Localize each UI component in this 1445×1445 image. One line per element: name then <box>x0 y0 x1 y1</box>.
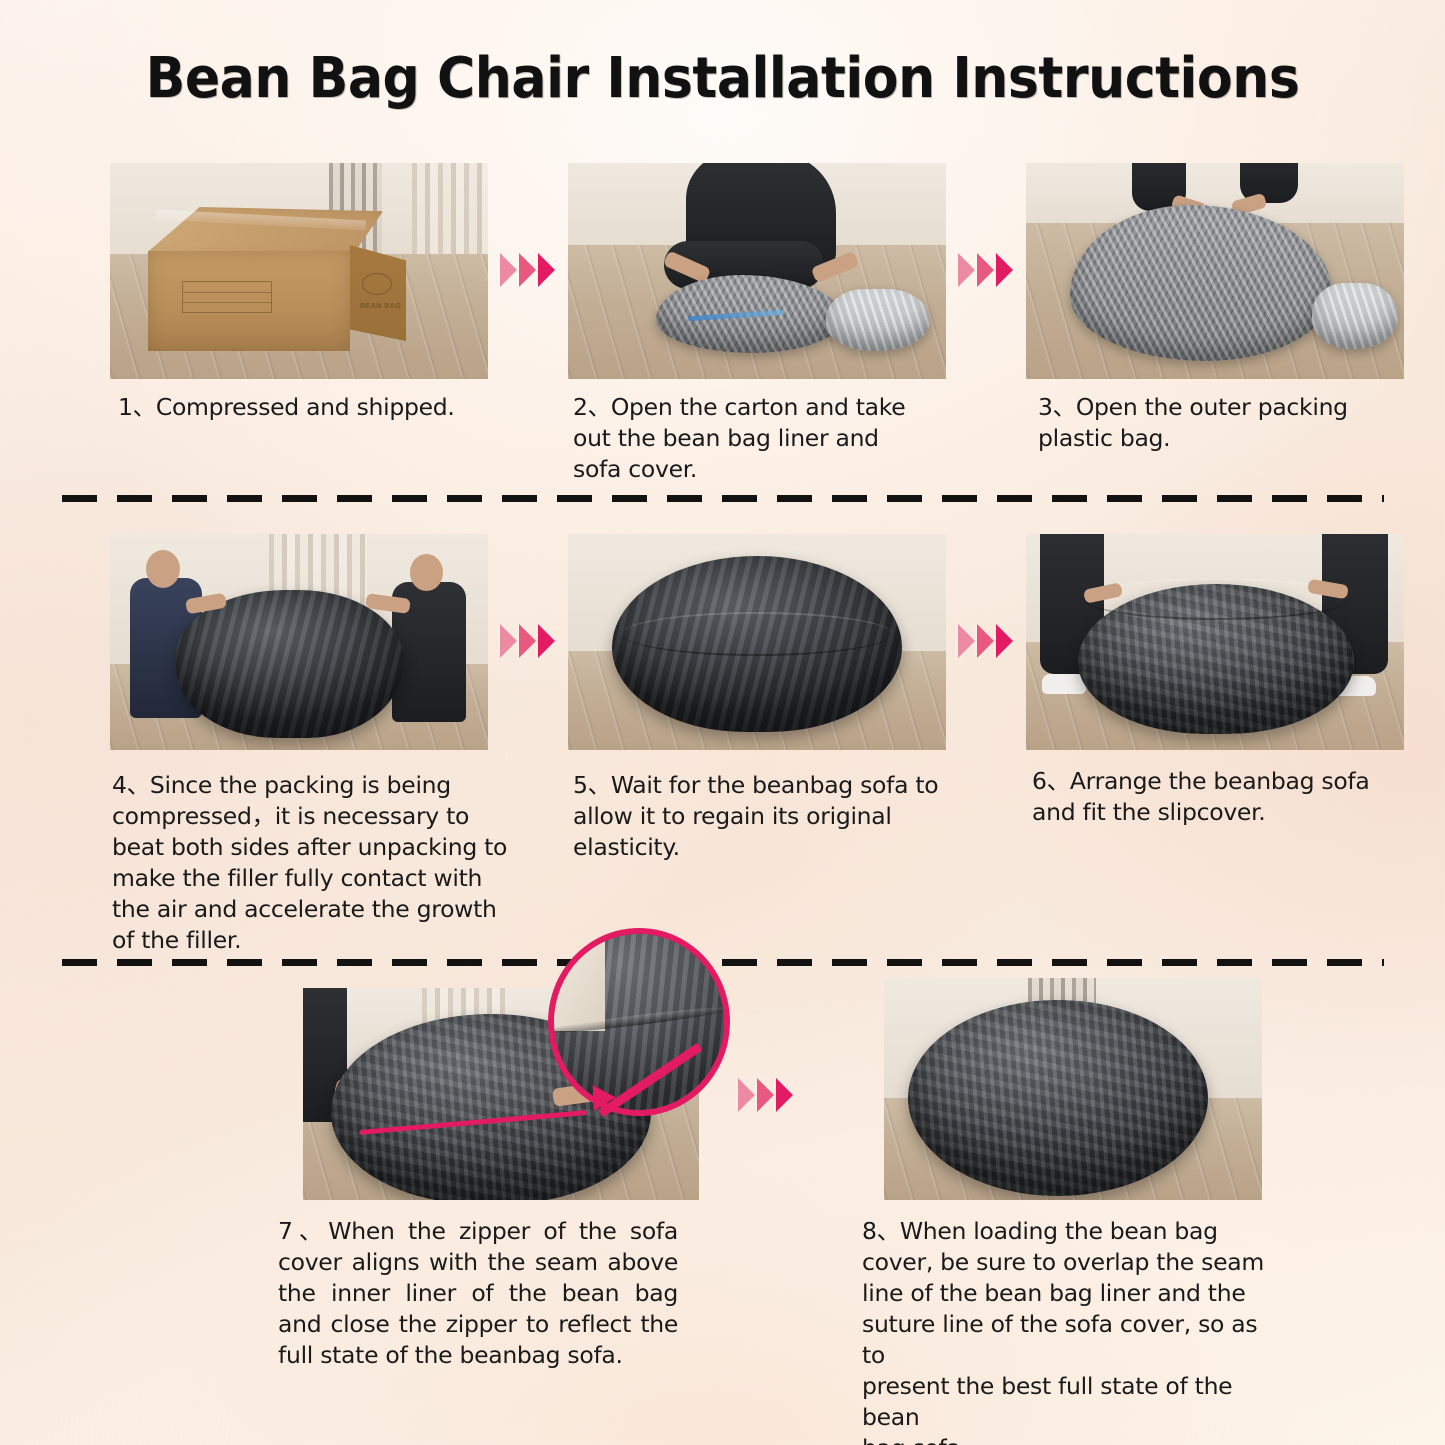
person-left-head <box>146 550 180 588</box>
chevron-icon <box>776 1078 793 1112</box>
step-6-photo <box>1026 534 1404 750</box>
page-title: Bean Bag Chair Installation Instructions <box>51 46 1395 111</box>
infographic-page: Bean Bag Chair Installation Instructions… <box>0 0 1445 1445</box>
step-6-caption: 6、Arrange the beanbag sofa and fit the s… <box>1032 766 1432 828</box>
step-3-photo <box>1026 163 1404 379</box>
step-1-photo: BEAN BAG <box>110 163 488 379</box>
sofa-cover-bag <box>826 289 930 351</box>
compressed-bean-bag <box>176 590 404 738</box>
chevron-icon <box>500 253 517 287</box>
arrow-step1-to-step2 <box>500 253 555 287</box>
arrow-step2-to-step3 <box>958 253 1013 287</box>
chevron-icon <box>538 253 555 287</box>
chevron-icon <box>500 624 517 658</box>
step-4-caption: 4、Since the packing is being compressed，… <box>112 770 522 956</box>
step-5-photo <box>568 534 946 750</box>
callout-room-corner <box>554 934 605 1031</box>
step-8-caption: 8、When loading the bean bag cover, be su… <box>862 1216 1274 1445</box>
arrow-step4-to-step5 <box>500 624 555 658</box>
chevron-icon <box>977 253 994 287</box>
step-8-photo <box>884 978 1262 1200</box>
finished-bean-bag-sofa <box>908 1000 1208 1196</box>
arrow-step5-to-step6 <box>958 624 1013 658</box>
bean-bag-seam <box>622 612 892 656</box>
step-3-caption: 3、Open the outer packing plastic bag. <box>1038 392 1438 454</box>
chevron-icon <box>977 624 994 658</box>
chevron-icon <box>757 1078 774 1112</box>
box-logo-text: BEAN BAG <box>360 303 401 310</box>
box-shipping-label <box>182 281 272 313</box>
step-4-photo <box>110 534 488 750</box>
step-1-caption: 1、Compressed and shipped. <box>118 392 518 423</box>
box-logo-circle <box>362 273 392 295</box>
chevron-icon <box>958 624 975 658</box>
chevron-icon <box>996 253 1013 287</box>
step-2-caption: 2、Open the carton and take out the bean … <box>573 392 973 485</box>
chevron-icon <box>958 253 975 287</box>
secondary-plastic-bag <box>1312 283 1398 349</box>
chevron-icon <box>519 253 536 287</box>
person-right-head <box>410 554 443 591</box>
person-left-shoe <box>1042 674 1086 694</box>
chevron-icon <box>996 624 1013 658</box>
chevron-icon <box>738 1078 755 1112</box>
divider-row1-row2 <box>62 495 1384 502</box>
step-2-photo <box>568 163 946 379</box>
step-5-caption: 5、Wait for the beanbag sofa to allow it … <box>573 770 973 863</box>
step-7-caption: 7、When the zipper of the sofa cover alig… <box>278 1216 678 1371</box>
chevron-icon <box>519 624 536 658</box>
arrow-step7-to-step8 <box>738 1078 793 1112</box>
chevron-icon <box>538 624 555 658</box>
